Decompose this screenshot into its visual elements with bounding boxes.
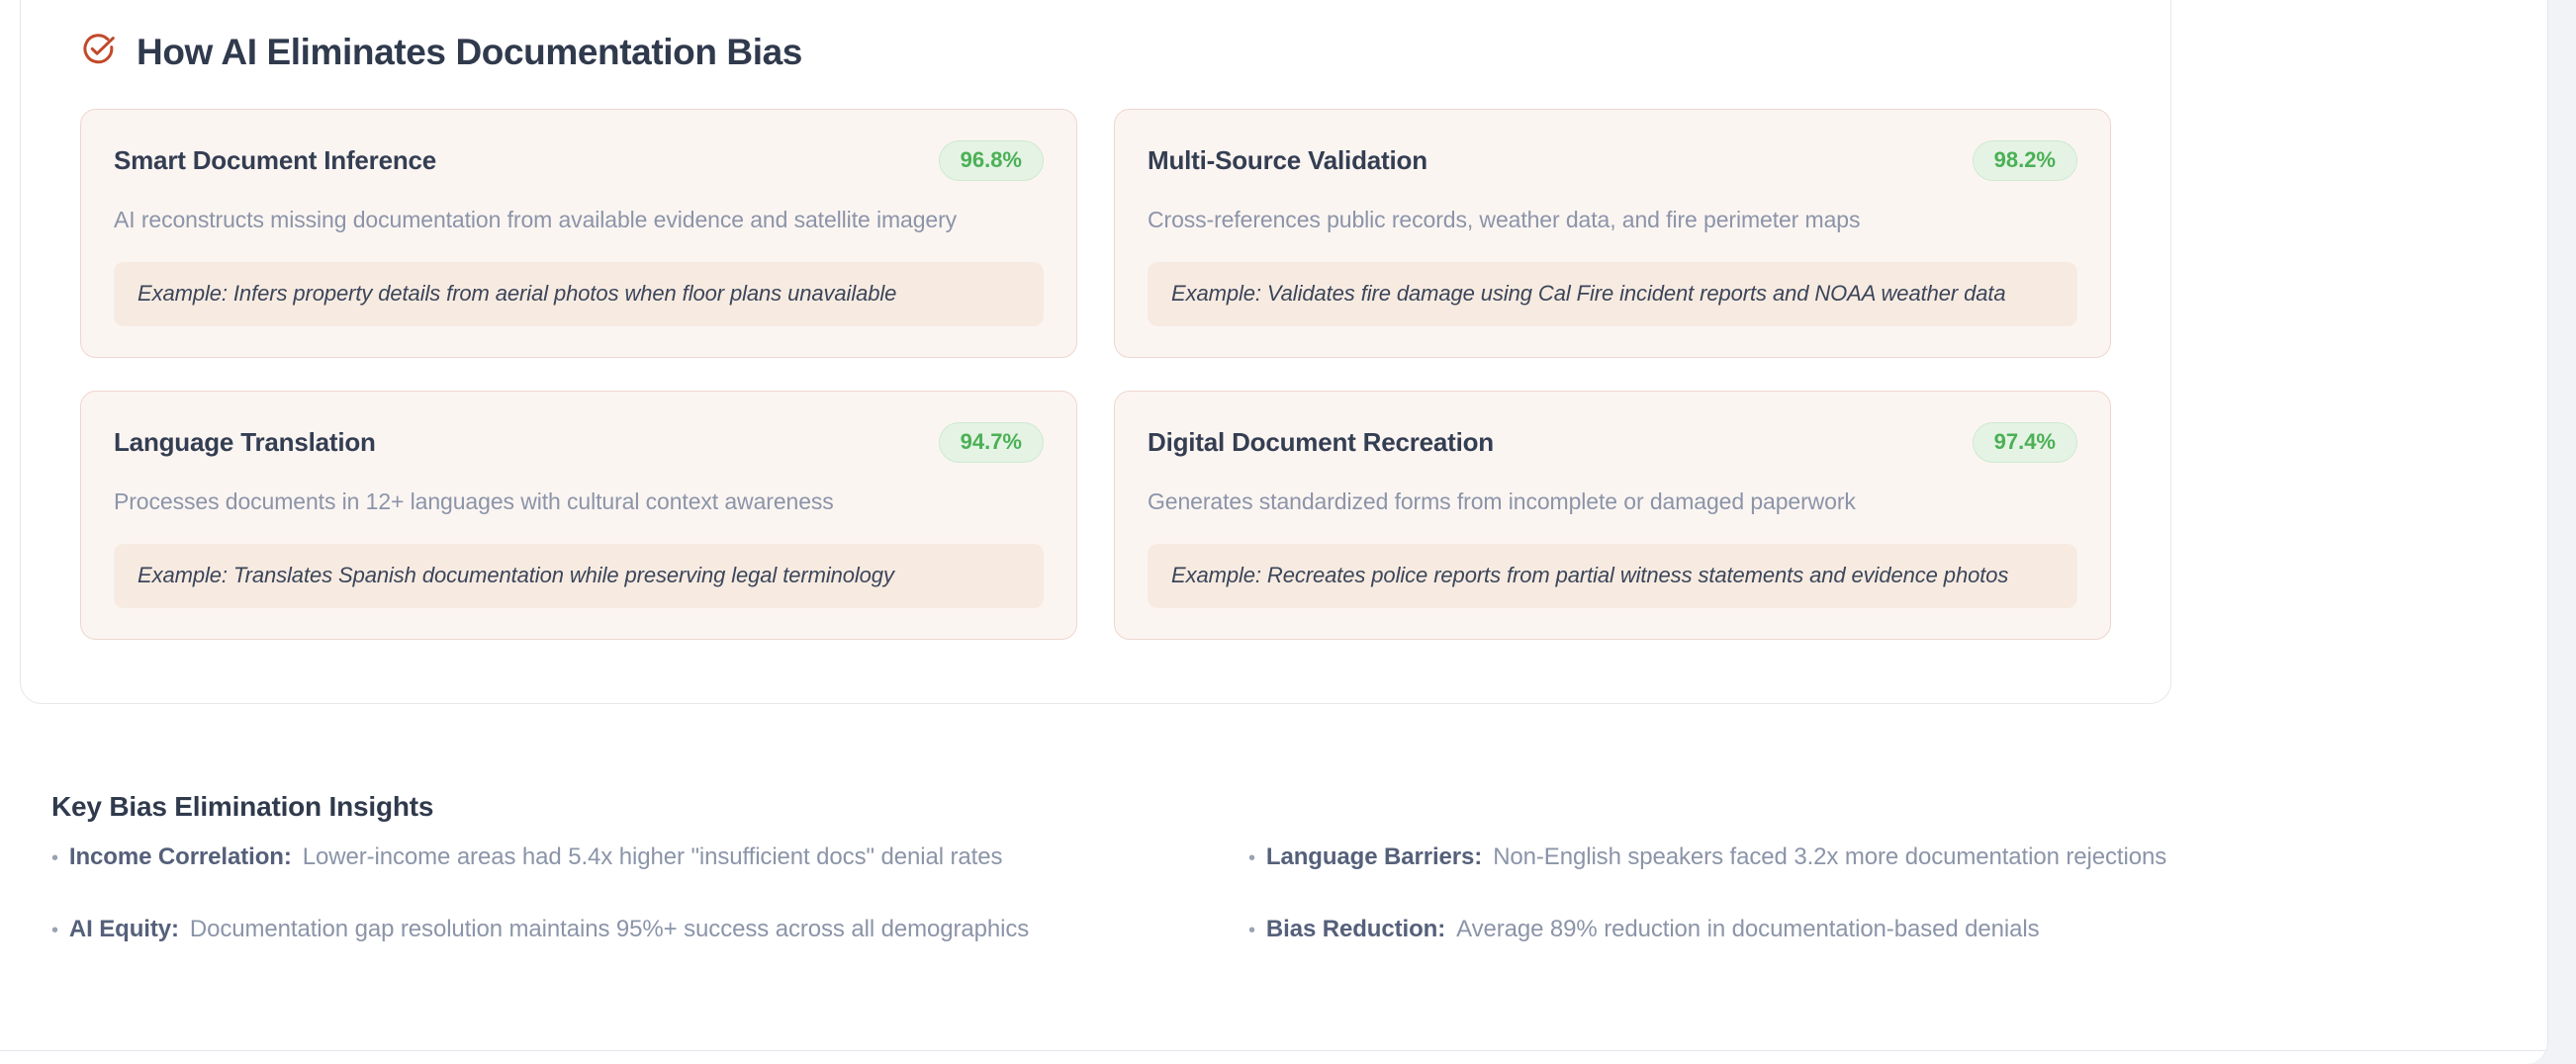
page-panel: How AI Eliminates Documentation Bias Sma… (0, 0, 2548, 1064)
insight-item-ai-equity: • AI Equity: Documentation gap resolutio… (51, 916, 1248, 988)
card-description: AI reconstructs missing documentation fr… (114, 207, 1044, 233)
documentation-bias-section: How AI Eliminates Documentation Bias Sma… (20, 0, 2171, 704)
feature-card-multi-source-validation[interactable]: Multi-Source Validation 98.2% Cross-refe… (1114, 109, 2111, 358)
insight-label: Language Barriers: (1266, 843, 1482, 871)
accuracy-badge: 97.4% (1973, 422, 2077, 463)
insight-text: Average 89% reduction in documentation-b… (1456, 916, 2039, 943)
accuracy-badge: 98.2% (1973, 140, 2077, 181)
card-title: Smart Document Inference (114, 145, 436, 176)
bullet-icon: • (1248, 848, 1255, 868)
insight-text: Lower-income areas had 5.4x higher "insu… (303, 843, 1003, 871)
card-description: Cross-references public records, weather… (1148, 207, 2077, 233)
bullet-icon: • (1248, 921, 1255, 940)
feature-card-digital-document-recreation[interactable]: Digital Document Recreation 97.4% Genera… (1114, 391, 2111, 640)
section-header: How AI Eliminates Documentation Bias (62, 21, 2129, 83)
card-header: Smart Document Inference 96.8% (114, 140, 1044, 181)
insight-label: Bias Reduction: (1266, 916, 1445, 943)
page-title: How AI Eliminates Documentation Bias (137, 32, 802, 73)
insight-item-bias-reduction: • Bias Reduction: Average 89% reduction … (1248, 916, 2445, 988)
insights-title: Key Bias Elimination Insights (51, 791, 2445, 823)
card-header: Digital Document Recreation 97.4% (1148, 422, 2077, 463)
card-title: Multi-Source Validation (1148, 145, 1427, 176)
insights-grid: • Income Correlation: Lower-income areas… (51, 843, 2445, 988)
accuracy-badge: 96.8% (939, 140, 1044, 181)
key-insights-section: Key Bias Elimination Insights • Income C… (51, 791, 2445, 988)
insight-text: Non-English speakers faced 3.2x more doc… (1493, 843, 2166, 871)
page-root: How AI Eliminates Documentation Bias Sma… (0, 0, 2576, 1064)
card-example: Example: Validates fire damage using Cal… (1148, 262, 2077, 326)
insight-item-income-correlation: • Income Correlation: Lower-income areas… (51, 843, 1248, 916)
card-description: Generates standardized forms from incomp… (1148, 488, 2077, 515)
card-title: Digital Document Recreation (1148, 427, 1494, 458)
insight-label: Income Correlation: (69, 843, 292, 871)
accuracy-badge: 94.7% (939, 422, 1044, 463)
bullet-icon: • (51, 848, 58, 868)
circle-check-icon (80, 32, 116, 72)
insight-item-language-barriers: • Language Barriers: Non-English speaker… (1248, 843, 2445, 916)
bottom-divider (0, 1050, 2548, 1051)
insight-label: AI Equity: (69, 916, 179, 943)
card-header: Language Translation 94.7% (114, 422, 1044, 463)
card-example: Example: Recreates police reports from p… (1148, 544, 2077, 608)
bullet-icon: • (51, 921, 58, 940)
insight-text: Documentation gap resolution maintains 9… (190, 916, 1029, 943)
feature-card-language-translation[interactable]: Language Translation 94.7% Processes doc… (80, 391, 1077, 640)
card-header: Multi-Source Validation 98.2% (1148, 140, 2077, 181)
card-title: Language Translation (114, 427, 376, 458)
feature-cards-grid: Smart Document Inference 96.8% AI recons… (62, 109, 2129, 640)
feature-card-smart-document-inference[interactable]: Smart Document Inference 96.8% AI recons… (80, 109, 1077, 358)
card-description: Processes documents in 12+ languages wit… (114, 488, 1044, 515)
card-example: Example: Infers property details from ae… (114, 262, 1044, 326)
card-example: Example: Translates Spanish documentatio… (114, 544, 1044, 608)
vertical-scrollbar[interactable] (2549, 0, 2576, 1064)
